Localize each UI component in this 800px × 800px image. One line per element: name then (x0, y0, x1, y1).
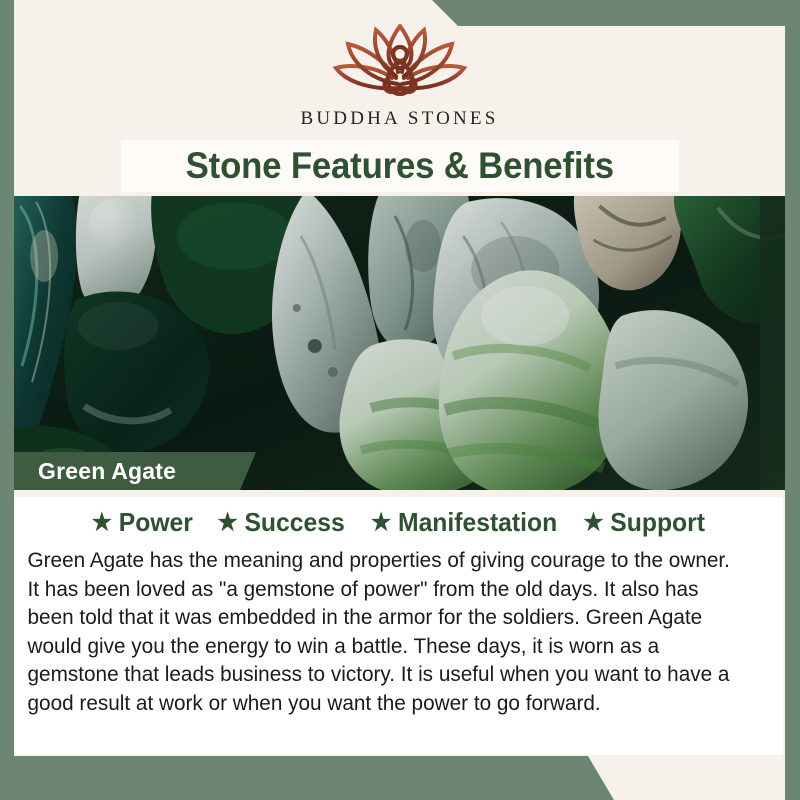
stone-description-text: Green Agate has the meaning and properti… (14, 546, 756, 718)
lotus-meditation-icon (318, 18, 482, 106)
star-icon: ★ (217, 511, 237, 535)
benefit-label: Support (610, 507, 705, 538)
stone-name-tag: Green Agate (14, 452, 256, 490)
star-icon: ★ (583, 511, 603, 535)
stone-info-poster: BUDDHA STONES Stone Features & Benefits (0, 0, 800, 800)
figure-head (393, 47, 407, 61)
poster-header: BUDDHA STONES Stone Features & Benefits (14, 0, 785, 196)
brand-name: BUDDHA STONES (300, 108, 498, 130)
green-agate-photo (14, 196, 785, 490)
stone-name-label: Green Agate (14, 458, 176, 485)
benefit-item-power: ★ Power (92, 507, 193, 538)
frame-accent-right (785, 0, 800, 800)
frame-accent-bottom-left (0, 756, 800, 800)
benefit-label: Power (119, 507, 193, 538)
title-panel: Stone Features & Benefits (121, 140, 679, 192)
star-icon: ★ (92, 511, 112, 535)
page-title: Stone Features & Benefits (185, 145, 613, 187)
brand-logo: BUDDHA STONES (14, 18, 785, 130)
star-icon: ★ (371, 511, 391, 535)
benefit-label: Manifestation (398, 507, 557, 538)
benefit-label: Success (244, 507, 344, 538)
frame-accent-left (0, 0, 14, 800)
benefit-item-manifestation: ★ Manifestation (371, 507, 557, 538)
benefit-item-success: ★ Success (217, 507, 344, 538)
stones-illustration (14, 196, 785, 490)
benefits-row: ★ Power ★ Success ★ Manifestation ★ Supp… (14, 497, 783, 538)
description-card: ★ Power ★ Success ★ Manifestation ★ Supp… (14, 497, 783, 755)
benefit-item-support: ★ Support (583, 507, 705, 538)
